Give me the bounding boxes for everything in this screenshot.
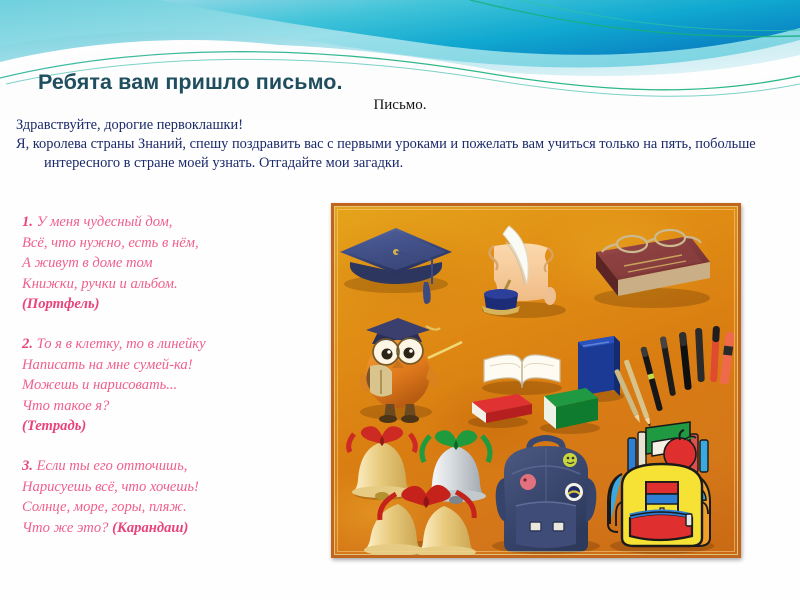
riddle-line: Что такое я?: [22, 396, 322, 417]
riddle-line: А живут в доме том: [22, 253, 322, 274]
riddle-number: 2.: [22, 336, 33, 352]
riddle-line: Солнце, море, горы, пляж.: [22, 497, 322, 518]
riddle-line: Написать на мне сумей-ка!: [22, 355, 322, 376]
presentation-slide: Ребята вам пришло письмо. Письмо. Здравс…: [0, 0, 800, 600]
denim-backpack-icon: [492, 438, 600, 554]
yellow-cartoon-backpack-icon: [608, 422, 714, 554]
riddle-answer: (Тетрадь): [22, 416, 322, 437]
riddle-item: 3. Если ты его отточишь, Нарисуешь всё, …: [22, 456, 322, 538]
riddle-number: 3.: [22, 458, 33, 474]
riddle-line: У меня чудесный дом,: [37, 214, 173, 230]
riddle-number: 1.: [22, 214, 33, 230]
quill-and-inkwell-icon: [482, 226, 566, 318]
letter-greeting: Здравствуйте, дорогие первоклашки!: [16, 116, 776, 135]
riddles-list: 1. У меня чудесный дом, Всё, что нужно, …: [22, 212, 322, 557]
graduation-cap-icon: [340, 228, 452, 304]
open-book-icon: [482, 355, 562, 395]
owl-professor-icon: [360, 318, 462, 423]
riddle-answer: (Портфель): [22, 294, 322, 315]
picture-panel-canvas: [334, 206, 738, 555]
riddle-item: 1. У меня чудесный дом, Всё, что нужно, …: [22, 212, 322, 315]
pens-and-pencils-icon: [614, 326, 735, 428]
green-book-icon: [540, 388, 600, 434]
book-with-eyeglasses-icon: [594, 230, 710, 308]
page-title: Ребята вам пришло письмо.: [38, 70, 343, 95]
riddle-line: Можешь и нарисовать...: [22, 375, 322, 396]
riddle-line: То я в клетку, то в линейку: [37, 336, 206, 352]
riddle-line: Что же это?: [22, 520, 108, 536]
letter-heading: Письмо.: [0, 97, 800, 114]
golden-bell-with-red-bow-icon: [349, 426, 416, 500]
riddle-line: Книжки, ручки и альбом.: [22, 274, 322, 295]
red-book-icon: [468, 394, 532, 428]
letter-body: Здравствуйте, дорогие первоклашки! Я, ко…: [16, 116, 776, 173]
letter-paragraph: Я, королева страны Знаний, спешу поздрав…: [16, 135, 776, 173]
riddle-line: Если ты его отточишь,: [37, 458, 188, 474]
riddle-answer: (Карандаш): [112, 520, 188, 536]
riddle-line: Всё, что нужно, есть в нём,: [22, 233, 322, 254]
riddle-item: 2. То я в клетку, то в линейку Написать …: [22, 334, 322, 437]
school-supplies-picture: [331, 203, 741, 558]
riddle-line: Нарисуешь всё, что хочешь!: [22, 477, 322, 498]
